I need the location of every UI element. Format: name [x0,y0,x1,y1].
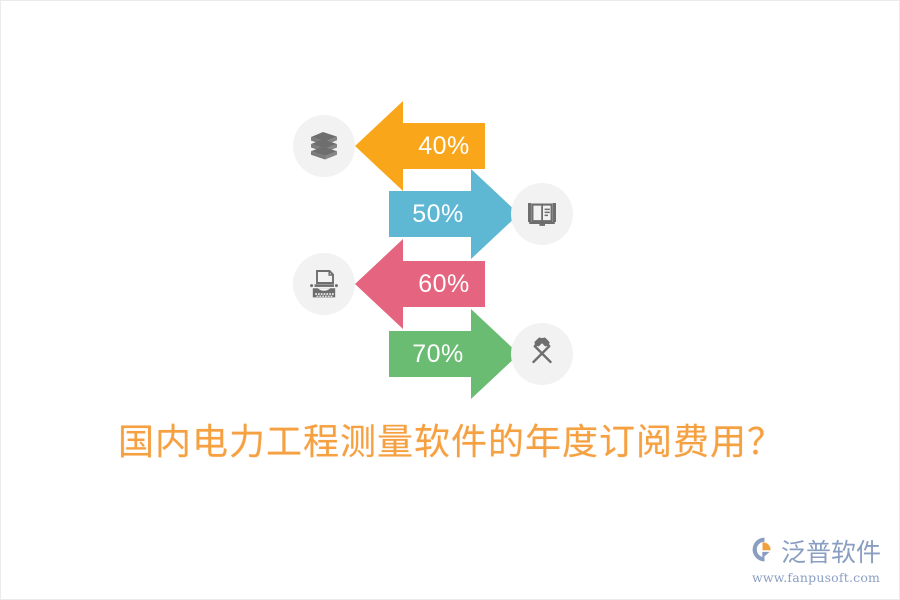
icon-bubble-open-book [511,183,573,245]
arrow-right-70 [389,309,519,399]
open-book-icon [524,196,560,232]
logo-name: 泛普软件 [781,540,881,565]
fanpu-logo-icon [751,536,778,568]
arrow-diagram: 40% [1,1,900,401]
icon-bubble-hammers [511,323,573,385]
crossed-hammers-icon [524,336,560,372]
page-title: 国内电力工程测量软件的年度订阅费用？ [1,413,900,465]
icon-bubble-books [293,115,355,177]
logo-url: www.fanpusoft.com [752,570,884,585]
logo-row: 泛普软件 [751,536,881,568]
infographic-canvas: 40% [0,0,900,600]
brand-logo: 泛普软件 www.fanpusoft.com [751,536,883,585]
diagram-row-4: 70% [389,309,589,399]
stacked-books-icon [306,128,342,164]
icon-bubble-typewriter [293,253,355,315]
typewriter-icon [306,266,342,302]
arrow-shape [389,309,519,399]
